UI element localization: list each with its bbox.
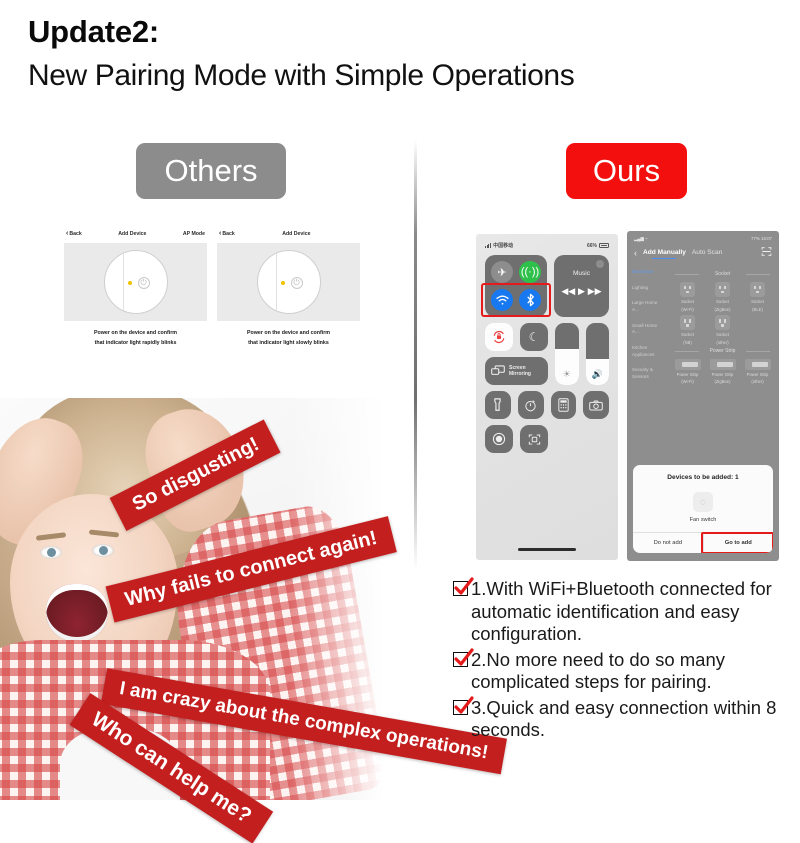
feature-item-3: 3.Quick and easy connection within 8 sec… xyxy=(453,697,793,742)
chevron-left-icon: ‹ xyxy=(66,230,68,237)
open-mouth-shape xyxy=(46,584,108,642)
plug-circle-graphic: ⏻ xyxy=(257,250,321,314)
modal-title: Devices to be added: 1 xyxy=(633,465,773,485)
device-label-line1: Socket xyxy=(741,299,774,305)
flashlight-icon[interactable] xyxy=(485,391,511,419)
volume-icon: 🔊 xyxy=(592,369,603,380)
device-tile-socket-nb[interactable]: Socket (NB) xyxy=(671,315,704,345)
play-icon[interactable]: ▶ xyxy=(578,286,585,297)
sidebar-item-kitchen-appliances[interactable]: Kitchen Appliances xyxy=(632,345,663,358)
app-title: Add Device xyxy=(82,231,183,237)
device-label-line2: (ZigBee) xyxy=(706,379,739,385)
status-bar-left: 中国移动 xyxy=(485,242,513,249)
screen-mirroring-icon xyxy=(491,365,505,378)
badge-others: Others xyxy=(136,143,286,199)
power-strip-grid: Power Strip (Wi-Fi) Power Strip (ZigBee)… xyxy=(671,359,774,385)
do-not-add-button[interactable]: Do not add xyxy=(633,533,703,553)
control-center-grid: ✈ ((·)) Music xyxy=(476,251,618,463)
left-pupil xyxy=(47,548,56,557)
heading-update-label: Update2: xyxy=(28,14,788,50)
device-label-line2: (other) xyxy=(706,340,739,346)
status-right-label: 77% 15:07 xyxy=(751,236,772,242)
device-label-line1: Socket xyxy=(706,332,739,338)
app-navbar: ‹ Back Add Device AP Mode xyxy=(62,226,209,241)
socket-icon xyxy=(750,282,765,297)
cc-row-middle: ☾ Screen Mirroring ☀ 🔊 xyxy=(485,323,609,385)
app-title: Add Device xyxy=(235,231,358,237)
battery-icon xyxy=(599,243,609,248)
go-to-add-button[interactable]: Go to add xyxy=(703,533,774,553)
device-tile-power-strip-wifi[interactable]: Power Strip (Wi-Fi) xyxy=(671,359,704,385)
device-tile-power-strip-other[interactable]: Power Strip (other) xyxy=(741,359,774,385)
device-label-line1: Socket xyxy=(671,332,704,338)
device-label-line2: (NB) xyxy=(671,340,704,346)
checkbox-checked-icon xyxy=(453,652,468,667)
sidebar-item-large-home-appliances[interactable]: Large Home A... xyxy=(632,300,663,313)
ios-control-center-screenshot: 中国移动 66% ✈ ((·)) xyxy=(476,234,618,560)
device-label-line2: (other) xyxy=(741,379,774,385)
instruction-line-2: that indicator light rapidly blinks xyxy=(62,338,209,348)
add-device-app-screenshot: ▂▄▆ ⌁ 77% 15:07 ‹ Add Manually Auto Scan… xyxy=(627,231,779,561)
instruction-line-2: that indicator light slowly blinks xyxy=(215,338,362,348)
plug-circle-graphic: ⏻ xyxy=(104,250,168,314)
device-tile-empty xyxy=(741,315,774,345)
sidebar-item-electrician[interactable]: Electrician xyxy=(632,269,663,276)
socket-icon xyxy=(680,282,695,297)
device-tile-power-strip-zigbee[interactable]: Power Strip (ZigBee) xyxy=(706,359,739,385)
socket-icon xyxy=(715,315,730,330)
device-label-line2: (ZigBee) xyxy=(706,307,739,313)
socket-icon xyxy=(680,315,695,330)
feature-text-3: 3.Quick and easy connection within 8 sec… xyxy=(471,697,793,742)
badge-ours: Ours xyxy=(566,143,687,199)
socket-icon xyxy=(715,282,730,297)
heading-subtitle: New Pairing Mode with Simple Operations xyxy=(28,57,788,95)
status-bar-right: 66% xyxy=(587,243,609,249)
sidebar-item-lighting[interactable]: Lighting xyxy=(632,285,663,292)
calculator-icon[interactable] xyxy=(551,391,577,419)
device-label-line1: Socket xyxy=(671,299,704,305)
indicator-led-icon xyxy=(128,281,132,285)
device-label-line2: (BLE) xyxy=(741,307,774,313)
home-indicator-bar xyxy=(518,548,576,551)
battery-percent-label: 66% xyxy=(587,243,597,249)
right-pupil xyxy=(99,546,108,555)
back-label: Back xyxy=(222,231,234,237)
wifi-bluetooth-highlight xyxy=(481,283,551,317)
app-navbar: ‹ Back Add Device xyxy=(215,226,362,241)
device-illustration: ⏻ xyxy=(217,243,360,321)
checkbox-checked-icon xyxy=(453,581,468,596)
instruction-line-1: Power on the device and confirm xyxy=(215,328,362,338)
power-button-icon: ⏻ xyxy=(291,277,303,289)
feature-list: 1.With WiFi+Bluetooth connected for auto… xyxy=(453,578,793,745)
fan-switch-icon: ◌ xyxy=(693,492,713,512)
volume-fill: 🔊 xyxy=(586,359,610,385)
power-button-icon: ⏻ xyxy=(138,277,150,289)
status-bar: ▂▄▆ ⌁ 77% 15:07 xyxy=(627,231,779,243)
cellular-data-icon[interactable]: ((·)) xyxy=(519,261,541,283)
socket-grid: Socket (Wi-Fi) Socket (ZigBee) Socket (B… xyxy=(671,282,774,346)
qr-code-scanner-icon[interactable] xyxy=(520,425,548,453)
brightness-slider[interactable]: ☀ xyxy=(555,323,579,385)
tab-add-manually[interactable]: Add Manually xyxy=(643,249,686,256)
devices-to-add-modal: Devices to be added: 1 ◌ Fan switch Do n… xyxy=(633,465,773,553)
app-navbar: ‹ Add Manually Auto Scan xyxy=(627,243,779,264)
carrier-label: 中国移动 xyxy=(493,242,513,249)
device-label-line1: Socket xyxy=(706,299,739,305)
signal-bars-icon xyxy=(485,243,491,248)
power-strip-icon xyxy=(710,359,736,370)
connectivity-module: ✈ ((·)) xyxy=(485,255,547,317)
back-button[interactable]: ‹ Back xyxy=(219,230,235,237)
timer-icon[interactable] xyxy=(518,391,544,419)
back-label: Back xyxy=(69,231,81,237)
feature-item-2: 2.No more need to do so many complicated… xyxy=(453,649,793,694)
instruction-caption: Power on the device and confirm that ind… xyxy=(62,328,209,348)
brightness-icon: ☀ xyxy=(563,369,571,380)
next-track-icon[interactable]: ▶▶ xyxy=(588,286,602,297)
cc-row-bottom xyxy=(485,425,609,453)
device-tile-socket-zigbee[interactable]: Socket (ZigBee) xyxy=(706,282,739,312)
tab-auto-scan[interactable]: Auto Scan xyxy=(692,249,722,256)
device-tile-socket-ble[interactable]: Socket (BLE) xyxy=(741,282,774,312)
instruction-caption: Power on the device and confirm that ind… xyxy=(215,328,362,348)
feature-item-1: 1.With WiFi+Bluetooth connected for auto… xyxy=(453,578,793,646)
brightness-fill: ☀ xyxy=(555,349,579,385)
camera-icon[interactable] xyxy=(583,391,609,419)
device-name-label: Fan switch xyxy=(633,517,773,523)
back-button[interactable]: ‹ Back xyxy=(66,230,82,237)
airplane-mode-icon[interactable]: ✈ xyxy=(491,261,513,283)
section-header-power-strip: Power Strip xyxy=(671,348,774,354)
screen-record-icon[interactable] xyxy=(485,425,513,453)
music-widget[interactable]: Music ◀◀ ▶ ▶▶ xyxy=(554,255,609,317)
previous-track-icon[interactable]: ◀◀ xyxy=(561,286,575,297)
device-label-line1: Power Strip xyxy=(671,372,704,378)
status-signal-icon: ▂▄▆ ⌁ xyxy=(634,236,648,242)
feature-text-2: 2.No more need to do so many complicated… xyxy=(471,649,793,694)
music-controls: ◀◀ ▶ ▶▶ xyxy=(560,286,603,297)
volume-slider[interactable]: 🔊 xyxy=(586,323,610,385)
screen-mirroring-tile[interactable]: Screen Mirroring xyxy=(485,357,548,385)
chevron-left-icon: ‹ xyxy=(219,230,221,237)
status-bar: 中国移动 66% xyxy=(476,234,618,251)
ap-mode-button[interactable]: AP Mode xyxy=(183,231,205,237)
device-label-line2: (Wi-Fi) xyxy=(671,379,704,385)
screen-mirroring-label: Screen Mirroring xyxy=(509,365,542,377)
qr-scan-icon[interactable] xyxy=(761,246,772,259)
music-label: Music xyxy=(560,270,603,277)
checkbox-checked-icon xyxy=(453,700,468,715)
power-strip-icon xyxy=(745,359,771,370)
sidebar-item-small-home-appliances[interactable]: Small Home A... xyxy=(632,323,663,336)
sidebar-item-security-sensors[interactable]: Security & Sensors xyxy=(632,367,663,380)
cc-row-utilities xyxy=(485,391,609,419)
discovered-device: ◌ Fan switch xyxy=(633,485,773,532)
vertical-divider xyxy=(414,140,417,570)
device-tile-socket-other[interactable]: Socket (other) xyxy=(706,315,739,345)
device-label-line2: (Wi-Fi) xyxy=(671,307,704,313)
device-tile-socket-wifi[interactable]: Socket (Wi-Fi) xyxy=(671,282,704,312)
indicator-led-icon xyxy=(281,281,285,285)
power-strip-icon xyxy=(675,359,701,370)
page-title: Update2: New Pairing Mode with Simple Op… xyxy=(28,14,788,94)
cc-row-top: ✈ ((·)) Music xyxy=(485,255,609,317)
device-label-line1: Power Strip xyxy=(741,372,774,378)
modal-actions: Do not add Go to add xyxy=(633,532,773,553)
device-label-line1: Power Strip xyxy=(706,372,739,378)
section-header-socket: Socket xyxy=(671,271,774,277)
do-not-disturb-moon-icon[interactable]: ☾ xyxy=(520,323,548,351)
feature-text-1: 1.With WiFi+Bluetooth connected for auto… xyxy=(471,578,793,646)
rotation-lock-icon[interactable] xyxy=(485,323,513,351)
airplay-badge-icon[interactable] xyxy=(596,260,604,268)
back-button[interactable]: ‹ xyxy=(634,248,637,258)
device-illustration: ⏻ xyxy=(64,243,207,321)
instruction-line-1: Power on the device and confirm xyxy=(62,328,209,338)
